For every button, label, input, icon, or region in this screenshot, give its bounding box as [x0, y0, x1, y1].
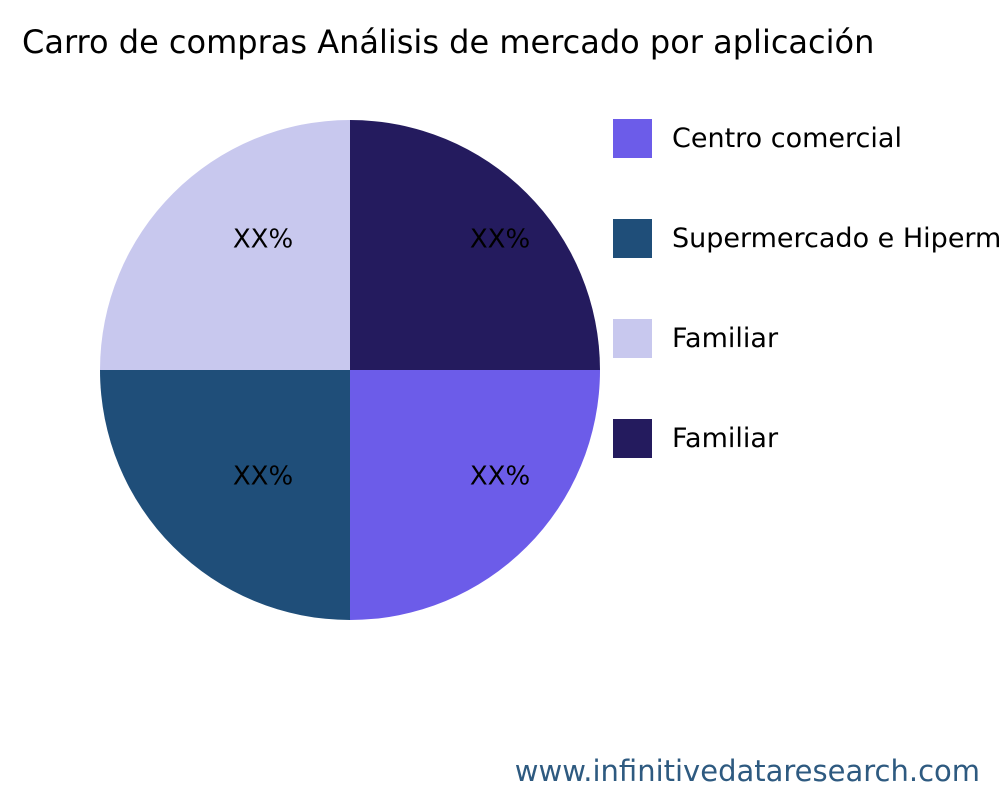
legend: Centro comercial Supermercado e Hipermer… — [613, 119, 1000, 499]
pie-chart: XX% XX% XX% XX% — [100, 120, 600, 620]
legend-item-familiar-lavender[interactable]: Familiar — [613, 319, 1000, 359]
chart-figure: Carro de compras Análisis de mercado por… — [0, 0, 1000, 800]
pie-slice-top-left[interactable] — [100, 120, 350, 370]
page-title: Carro de compras Análisis de mercado por… — [22, 22, 982, 62]
legend-item-supermercado-e-hipermercado[interactable]: Supermercado e Hipermercado — [613, 219, 1000, 259]
pie-slice-bottom-left[interactable] — [100, 370, 350, 620]
legend-item-familiar-navy[interactable]: Familiar — [613, 419, 1000, 459]
pie-label-top-left: XX% — [233, 225, 293, 255]
footer-website-url[interactable]: www.infinitivedataresearch.com — [0, 752, 980, 790]
legend-item-label: Familiar — [672, 419, 778, 458]
pie-label-bottom-left: XX% — [233, 462, 293, 492]
pie-slice-bottom-right[interactable] — [350, 370, 600, 620]
pie-label-bottom-right: XX% — [470, 462, 530, 492]
legend-item-centro-comercial[interactable]: Centro comercial — [613, 119, 1000, 159]
legend-item-label: Supermercado e Hipermercado — [672, 219, 1000, 258]
legend-swatch-icon — [613, 119, 652, 158]
pie-chart-svg: XX% XX% XX% XX% — [100, 120, 600, 620]
legend-swatch-icon — [613, 319, 652, 358]
pie-label-top-right: XX% — [470, 225, 530, 255]
legend-item-label: Centro comercial — [672, 119, 902, 158]
legend-swatch-icon — [613, 219, 652, 258]
legend-item-label: Familiar — [672, 319, 778, 358]
legend-swatch-icon — [613, 419, 652, 458]
